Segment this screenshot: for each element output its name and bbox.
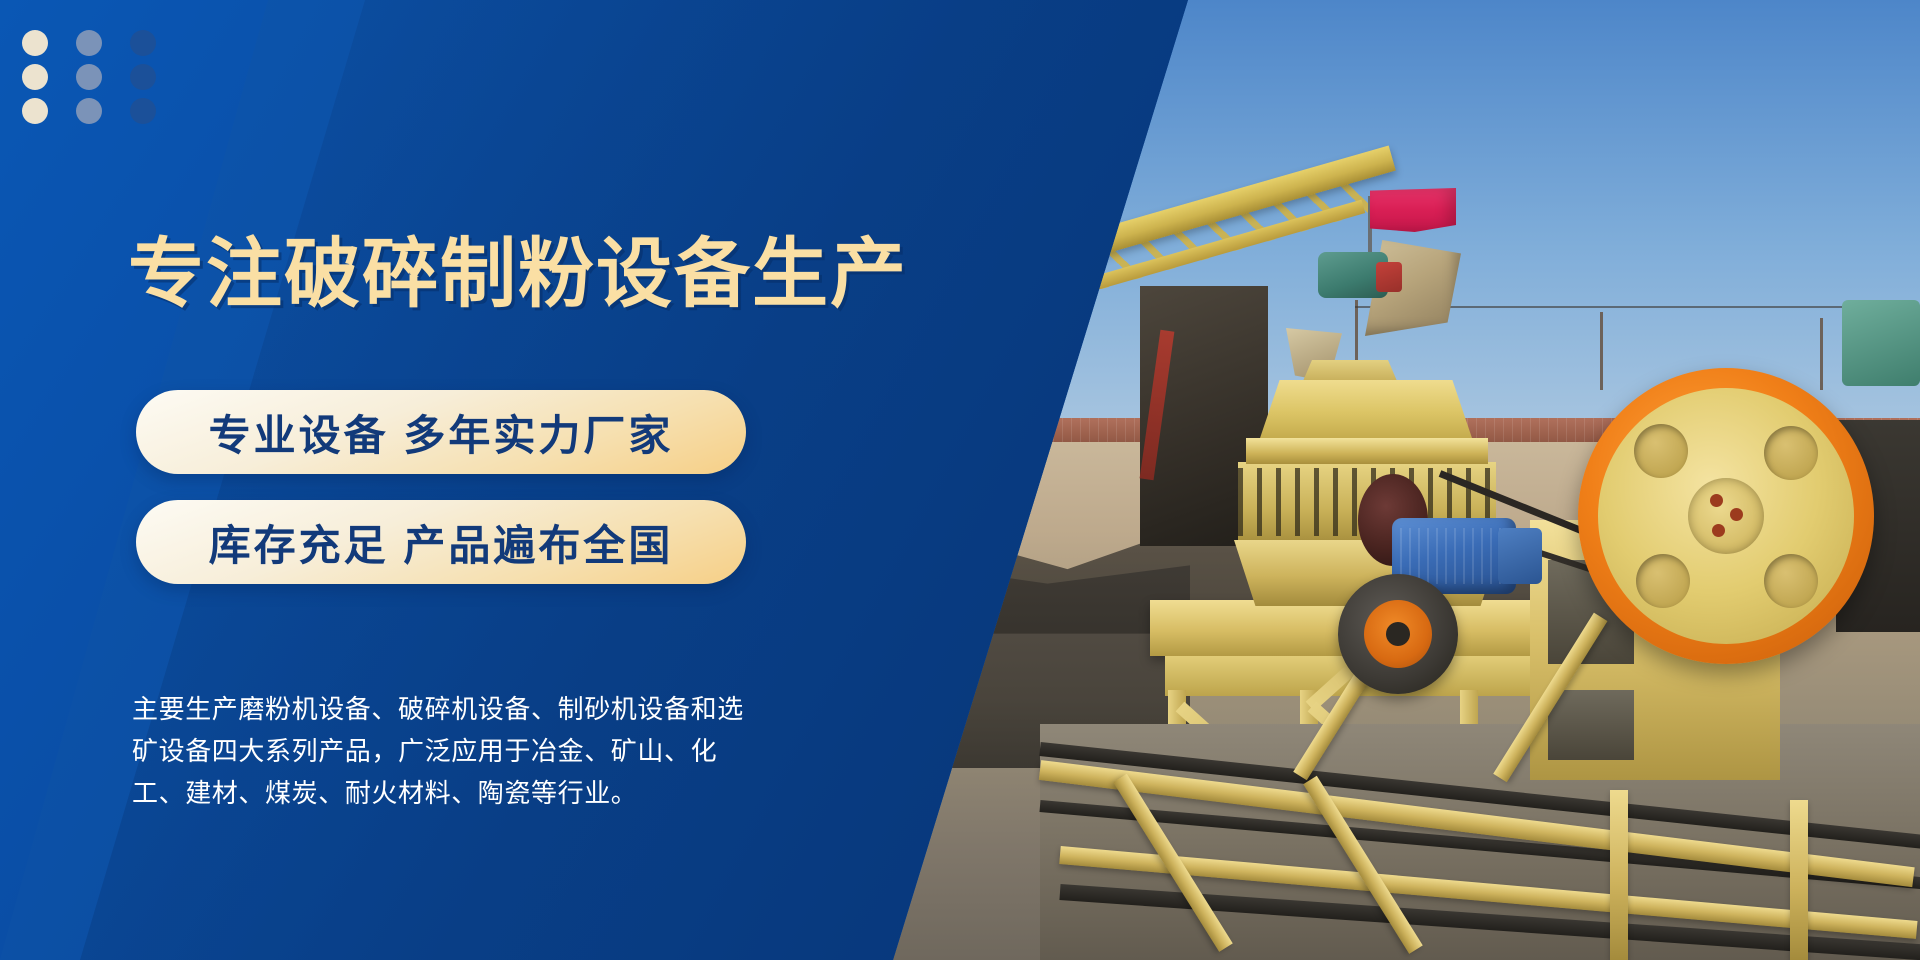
dot — [130, 30, 156, 56]
feature-pill-2-label: 库存充足 产品遍布全国 — [209, 512, 674, 573]
feature-pill-2: 库存充足 产品遍布全国 — [136, 500, 746, 584]
description-paragraph: 主要生产磨粉机设备、破碎机设备、制砂机设备和选矿设备四大系列产品，广泛应用于冶金… — [132, 688, 744, 814]
dot — [76, 30, 102, 56]
hero-banner: 专注破碎制粉设备生产 专业设备 多年实力厂家 库存充足 产品遍布全国 主要生产磨… — [0, 0, 1920, 960]
yellow-beam-post — [1790, 800, 1808, 960]
page-title: 专注破碎制粉设备生产 — [128, 237, 908, 313]
motor-fan-cover — [1498, 528, 1542, 584]
dot — [22, 98, 48, 124]
dot — [22, 30, 48, 56]
dot — [22, 64, 48, 90]
dot-grid-decoration — [22, 30, 184, 132]
red-flag — [1370, 188, 1456, 232]
feature-pill-1: 专业设备 多年实力厂家 — [136, 390, 746, 474]
flywheel-bolt — [1710, 494, 1723, 507]
flywheel-hub — [1688, 478, 1764, 554]
conveyor-red-cap — [1376, 262, 1402, 292]
yellow-beam-post — [1610, 790, 1628, 960]
cone-crusher-ring — [1246, 438, 1488, 464]
power-pole — [1820, 318, 1823, 390]
flywheel-bolt — [1712, 524, 1725, 537]
dot — [130, 98, 156, 124]
jaw-crusher-opening-lower — [1548, 690, 1634, 760]
flywheel-hole — [1764, 426, 1818, 480]
feature-pill-1-label: 专业设备 多年实力厂家 — [209, 402, 674, 463]
flywheel-hole — [1636, 554, 1690, 608]
green-machine-housing — [1842, 300, 1920, 386]
cone-crusher-top — [1258, 380, 1474, 444]
power-pole — [1600, 312, 1603, 390]
flywheel-hole — [1634, 424, 1688, 478]
jaw-crusher-flywheel — [1578, 368, 1874, 664]
dot — [130, 64, 156, 90]
dot — [76, 98, 102, 124]
small-flywheel — [1338, 574, 1458, 694]
flywheel-hole — [1764, 554, 1818, 608]
flywheel-bolt — [1730, 508, 1743, 521]
dot — [76, 64, 102, 90]
